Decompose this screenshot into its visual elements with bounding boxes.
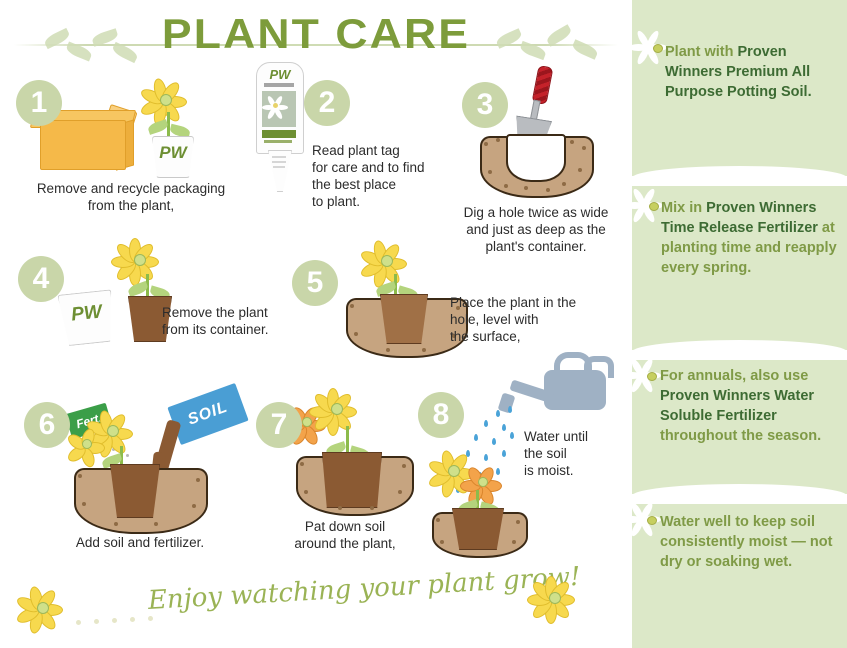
step-2-number: 2	[304, 80, 350, 126]
step-6: 6 Fert. SOIL	[20, 392, 270, 562]
step-7-caption: Pat down soilaround the plant,	[252, 518, 438, 552]
banner-flower-left-icon	[28, 590, 88, 634]
tip-3-tail: throughout the season.	[660, 428, 821, 444]
step-3-number: 3	[462, 82, 508, 128]
step-2: 2 PW	[250, 58, 440, 218]
infographic-page: PLANT CARE 1	[0, 0, 847, 648]
page-title: PLANT CARE	[0, 10, 651, 58]
tip-3-lead: For annuals, also use	[660, 368, 808, 384]
plant-tag-icon: PW	[252, 58, 308, 190]
step-3: 3 Dig a hole twice as wideand just as de…	[440, 62, 630, 222]
tip-3-brand: Proven Winners Water Soluble Fertilizer	[660, 388, 814, 424]
fertilizer-and-soil-icon: Fert. SOIL	[52, 392, 262, 532]
potted-plant-icon: PW	[134, 82, 220, 178]
tip-1-lead: Plant with	[665, 44, 738, 60]
tip-2-text: Mix in Proven Winners Time Release Ferti…	[661, 198, 845, 278]
empty-pw-pot-icon: PW	[56, 286, 120, 348]
banner-text: Enjoy watching your plant grow!	[147, 565, 518, 616]
tip-4-lead: Water well to keep soil consistently moi…	[660, 514, 832, 570]
soil-bag-label: SOIL	[167, 383, 248, 445]
patted-soil-icon	[280, 390, 430, 530]
step-4-number: 4	[18, 256, 64, 302]
bottom-banner: Enjoy watching your plant grow!	[0, 578, 632, 640]
step-4: 4 PW	[16, 246, 306, 366]
tip-3-text: For annuals, also use Proven Winners Wat…	[660, 366, 846, 446]
step-7-number: 7	[256, 402, 302, 448]
step-7: 7	[252, 390, 442, 560]
tips-sidebar: Plant with Proven Winners Premium All Pu…	[632, 0, 847, 648]
banner-flower-right-icon	[540, 580, 604, 626]
step-2-caption: Read plant tagfor care and to findthe be…	[312, 142, 444, 210]
step-5-number: 5	[292, 260, 338, 306]
panel-divider	[632, 176, 847, 186]
step-8: 8	[416, 362, 632, 552]
steps-panel: PLANT CARE 1	[0, 0, 632, 648]
step-1: 1 PW	[16, 80, 246, 220]
step-6-number: 6	[24, 402, 70, 448]
tip-1-text: Plant with Proven Winners Premium All Pu…	[665, 42, 841, 102]
step-8-caption: Water untilthe soilis moist.	[524, 428, 632, 479]
step-6-caption: Add soil and fertilizer.	[40, 534, 240, 551]
tip-4-text: Water well to keep soil consistently moi…	[660, 512, 846, 572]
tip-2-lead: Mix in	[661, 200, 706, 216]
step-1-number: 1	[16, 80, 62, 126]
step-8-number: 8	[418, 392, 464, 438]
step-4-caption: Remove the plantfrom its container.	[162, 304, 312, 338]
step-1-caption: Remove and recycle packagingfrom the pla…	[16, 180, 246, 214]
step-5-caption: Place the plant in thehole, level withth…	[450, 294, 610, 345]
